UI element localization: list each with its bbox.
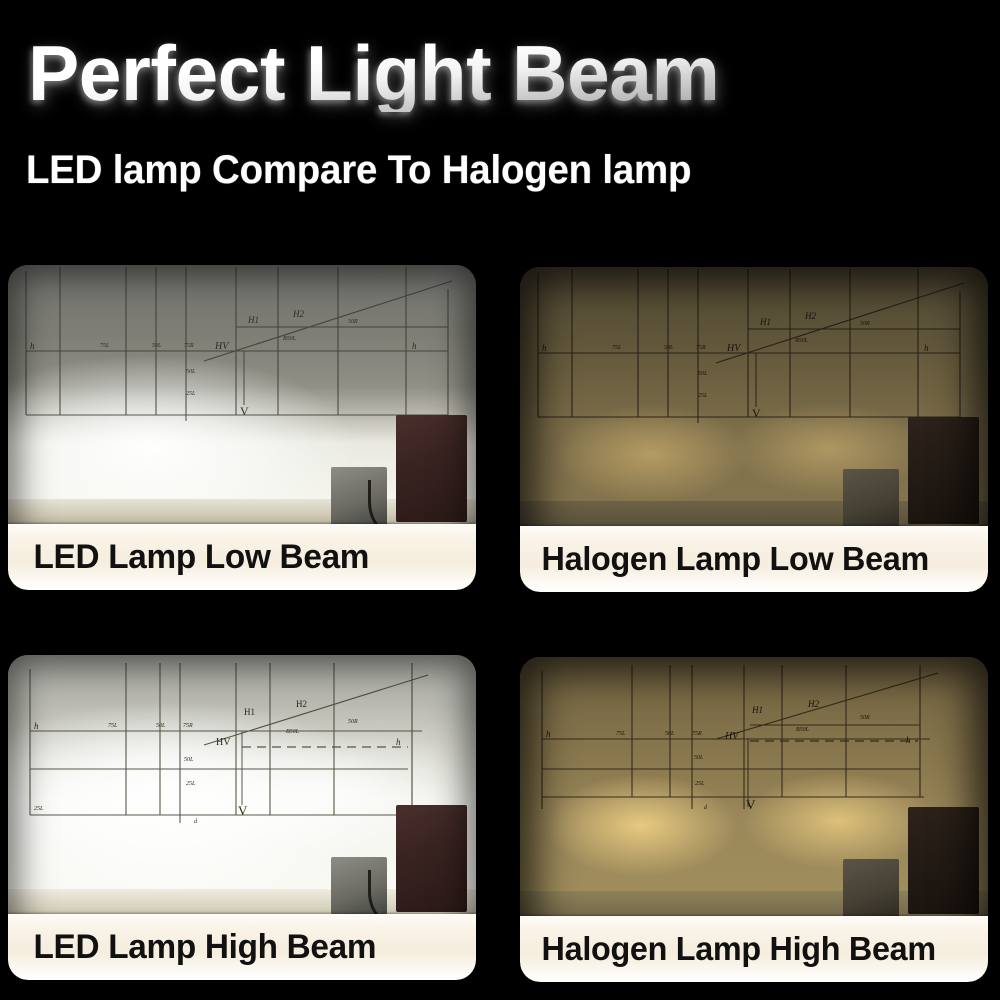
caption-bar: Halogen Lamp Low Beam xyxy=(520,526,988,592)
grid-label-50r: 50R xyxy=(348,719,358,725)
grid-label-h1: H1 xyxy=(759,317,771,327)
grid-label-hv: HV xyxy=(724,731,740,742)
grid-label-mid: 50L xyxy=(156,723,166,729)
grid-label-upper: 75R xyxy=(184,343,194,349)
caption-label: LED Lamp Low Beam xyxy=(8,538,369,577)
grid-label-75l: 75L xyxy=(612,345,622,351)
caption-label: Halogen Lamp Low Beam xyxy=(520,540,929,578)
grid-label-50r: 50R xyxy=(348,319,358,325)
caption-bar: Halogen Lamp High Beam xyxy=(520,916,988,982)
grid-label-hv: HV xyxy=(726,343,742,354)
grid-label-h-right: h xyxy=(906,735,911,745)
caption-bar: LED Lamp Low Beam xyxy=(8,524,476,590)
grid-label-bottom: d xyxy=(194,819,198,825)
grid-label-h-left: h xyxy=(34,721,39,731)
grid-label-25l-corner: 25L xyxy=(34,806,44,812)
grid-label-h-right: h xyxy=(396,737,401,747)
grid-label-h2: H2 xyxy=(804,311,816,321)
grid-label-upper: 75R xyxy=(696,345,706,351)
grid-label-25l: 25L xyxy=(186,391,196,397)
grid-label-bottom: d xyxy=(704,805,708,811)
grid-label-b50l: B50L xyxy=(283,336,297,342)
grid-label-h-right: h xyxy=(412,341,417,351)
equipment-box xyxy=(843,859,899,918)
panel-led-high-beam[interactable]: h h HV V H1 H2 B50L 50R 50L 25L 75L 50L … xyxy=(8,655,476,980)
grid-label-50r: 50R xyxy=(860,321,870,327)
grid-label-75l: 75L xyxy=(100,343,110,349)
grid-label-50r: 50R xyxy=(860,715,870,721)
grid-label-50l: 50L xyxy=(184,757,194,763)
grid-label-v: V xyxy=(752,406,761,420)
grid-label-b50l: B50L xyxy=(795,338,809,344)
grid-label-50l: 50L xyxy=(694,755,704,761)
grid-label-50l: 50L xyxy=(186,369,196,375)
grid-label-hv: HV xyxy=(216,737,231,748)
grid-label-50l: 50L xyxy=(698,371,708,377)
grid-label-h1: H1 xyxy=(751,705,763,715)
grid-label-h-right: h xyxy=(924,343,929,353)
grid-label-mid: 50L xyxy=(664,345,674,351)
panel-led-low-beam[interactable]: h h HV V H1 H2 B50L 50R 50L 25L 75L 50L … xyxy=(8,265,476,590)
grid-label-upper: 75R xyxy=(183,723,193,729)
grid-label-25l: 25L xyxy=(698,393,708,399)
grid-label-b50l: B50L xyxy=(286,729,300,735)
grid-label-v: V xyxy=(240,404,249,418)
grid-label-h-left: h xyxy=(546,729,551,739)
grid-label-mid: 50L xyxy=(152,343,162,349)
grid-label-75l: 75L xyxy=(108,723,118,729)
grid-label-hv: HV xyxy=(214,341,230,352)
panel-halogen-high-beam[interactable]: h h HV V H1 H2 B50L 50R 50L 25L 75L 50L … xyxy=(520,657,988,982)
grid-label-upper: 75R xyxy=(692,731,702,737)
grid-label-h2: H2 xyxy=(807,699,819,709)
grid-label-h-left: h xyxy=(30,341,35,351)
panel-halogen-low-beam[interactable]: h h HV V H1 H2 B50L 50R 50L 25L 75L 50L … xyxy=(520,267,988,592)
grid-label-b50l: B50L xyxy=(796,727,810,733)
caption-label: Halogen Lamp High Beam xyxy=(520,930,936,968)
grid-label-v: V xyxy=(238,803,248,818)
grid-label-v: V xyxy=(746,797,756,812)
equipment-box xyxy=(843,469,899,528)
caption-label: LED Lamp High Beam xyxy=(8,928,376,967)
grid-label-h2: H2 xyxy=(292,309,304,319)
grid-label-h-left: h xyxy=(542,343,547,353)
grid-label-mid: 50L xyxy=(665,731,675,737)
equipment-cabinet xyxy=(908,807,978,914)
grid-label-h1: H1 xyxy=(247,315,259,325)
grid-label-75l: 75L xyxy=(616,731,626,737)
grid-label-h1: H1 xyxy=(244,707,255,717)
equipment-cabinet xyxy=(908,417,978,524)
grid-label-h2: H2 xyxy=(296,699,307,709)
grid-label-25l: 25L xyxy=(695,781,705,787)
comparison-panel-grid: h h HV V H1 H2 B50L 50R 50L 25L 75L 50L … xyxy=(0,0,1000,1000)
grid-label-25l: 25L xyxy=(186,781,196,787)
caption-bar: LED Lamp High Beam xyxy=(8,914,476,980)
